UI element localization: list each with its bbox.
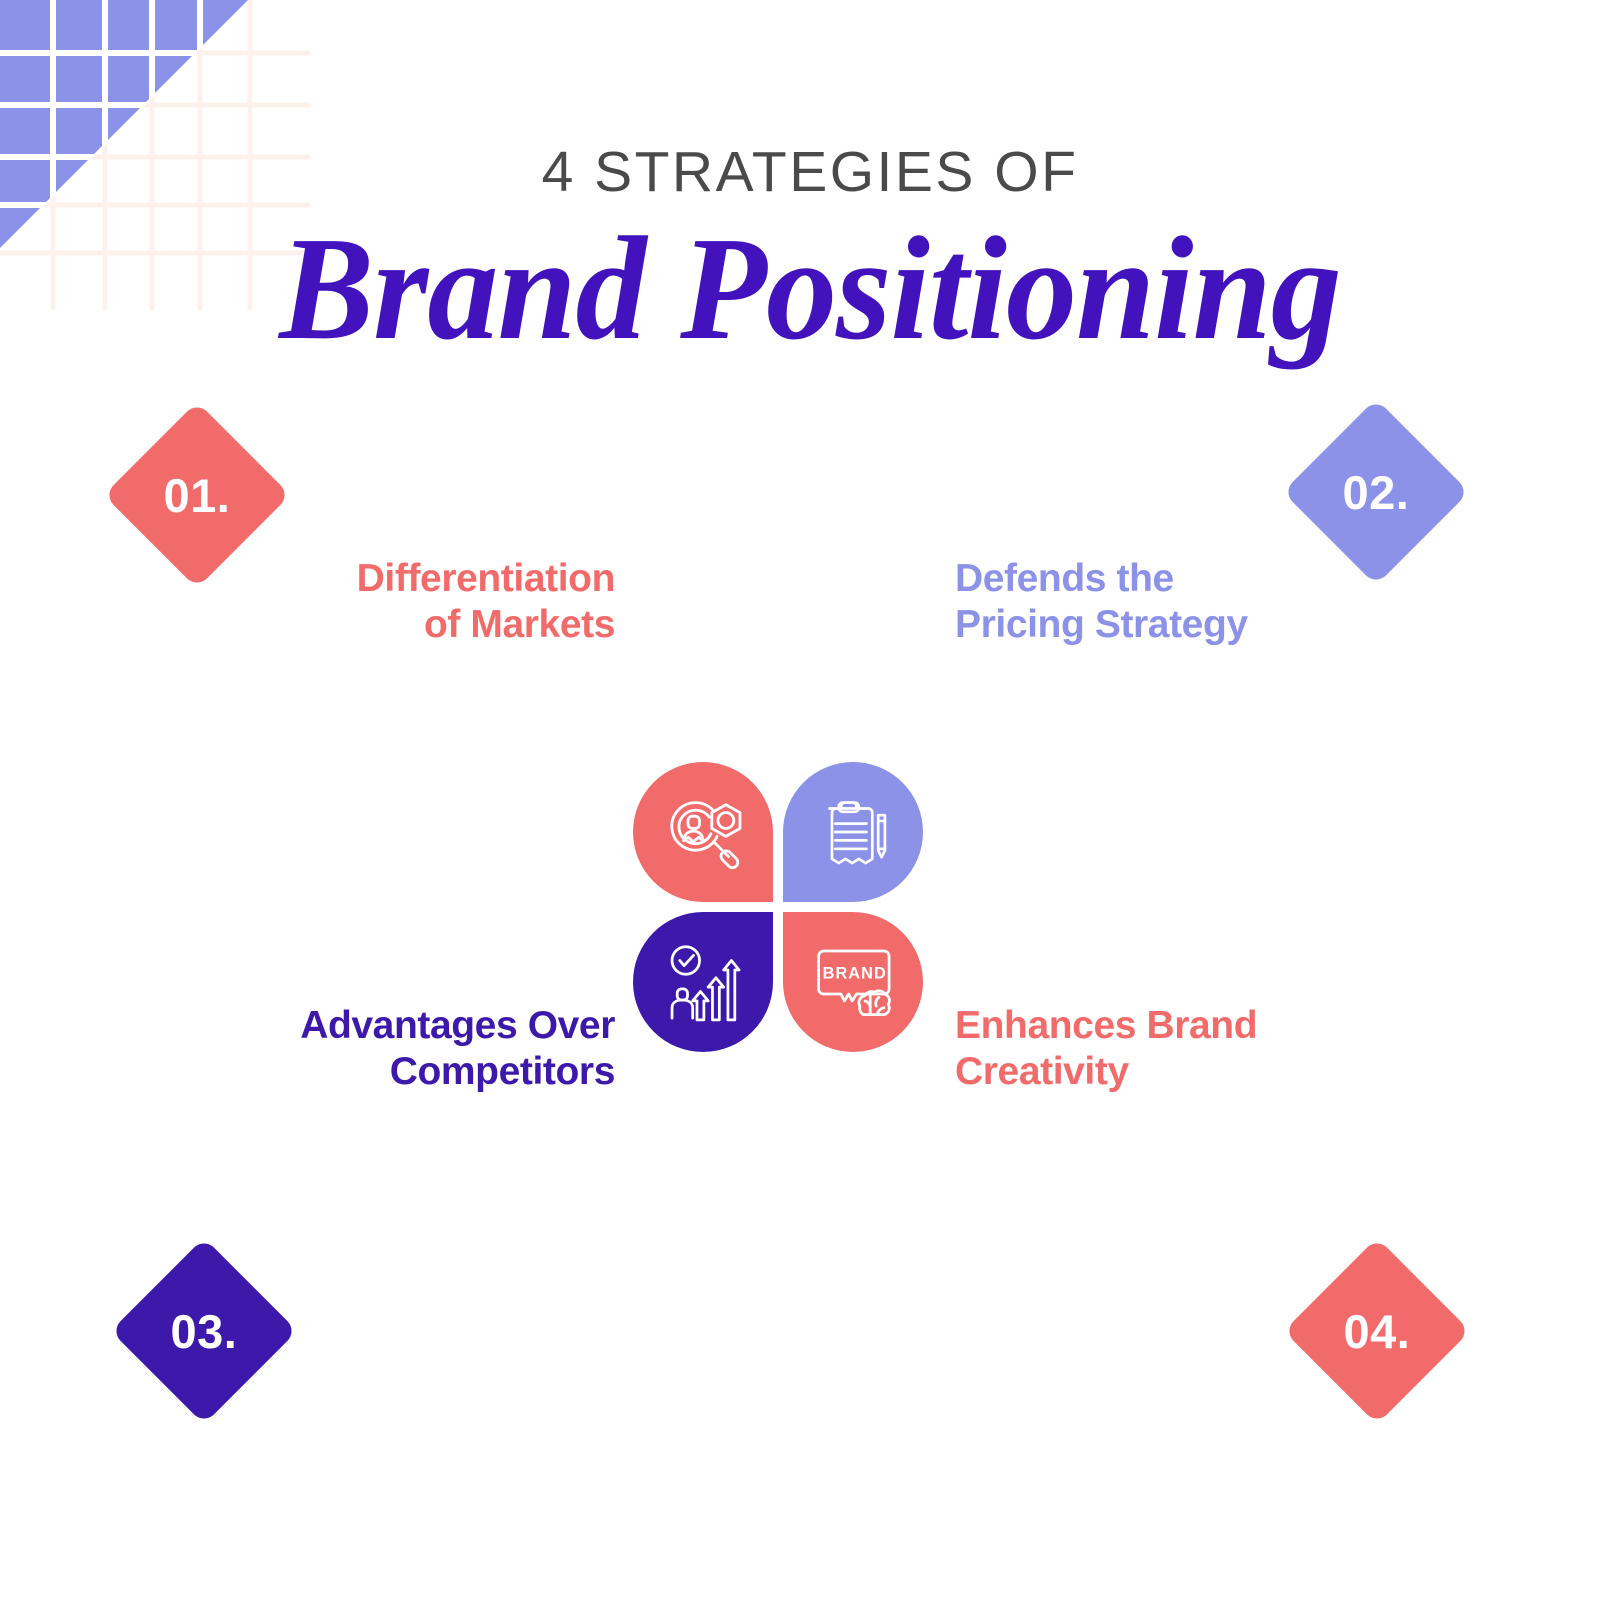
page-title: Brand Positioning <box>32 212 1587 367</box>
strategy-01-icon-tile <box>633 762 773 902</box>
strategy-04-caption: Enhances Brand Creativity <box>955 1003 1425 1094</box>
icon-cluster: BRAND <box>633 762 933 1062</box>
clipboard-pencil-icon <box>811 790 895 874</box>
badge-04: 04. <box>1284 1238 1471 1425</box>
page-eyebrow: 4 STRATEGIES OF <box>0 140 1620 206</box>
market-research-magnifier-icon <box>659 788 747 876</box>
strategy-04-icon-tile: BRAND <box>783 912 923 1052</box>
strategy-03-icon-tile <box>633 912 773 1052</box>
badge-01-label: 01. <box>164 472 231 519</box>
strategy-02-caption: Defends the Pricing Strategy <box>955 556 1375 647</box>
brand-brain-speech-bubble-icon: BRAND <box>810 939 896 1025</box>
page-title-block: 4 STRATEGIES OF Brand Positioning <box>0 140 1620 367</box>
strategy-03-caption: Advantages Over Competitors <box>145 1003 615 1094</box>
brand-bubble-text: BRAND <box>823 965 887 983</box>
strategy-01-caption: Differentiation of Markets <box>200 556 615 647</box>
badge-04-label: 04. <box>1344 1308 1411 1355</box>
badge-03-label: 03. <box>171 1308 238 1355</box>
badge-03: 03. <box>111 1238 298 1425</box>
badge-02-label: 02. <box>1343 469 1410 516</box>
growth-arrows-checkmark-icon <box>660 939 746 1025</box>
poster-canvas: 4 STRATEGIES OF Brand Positioning 01. 02… <box>0 0 1620 1620</box>
strategy-02-icon-tile <box>783 762 923 902</box>
